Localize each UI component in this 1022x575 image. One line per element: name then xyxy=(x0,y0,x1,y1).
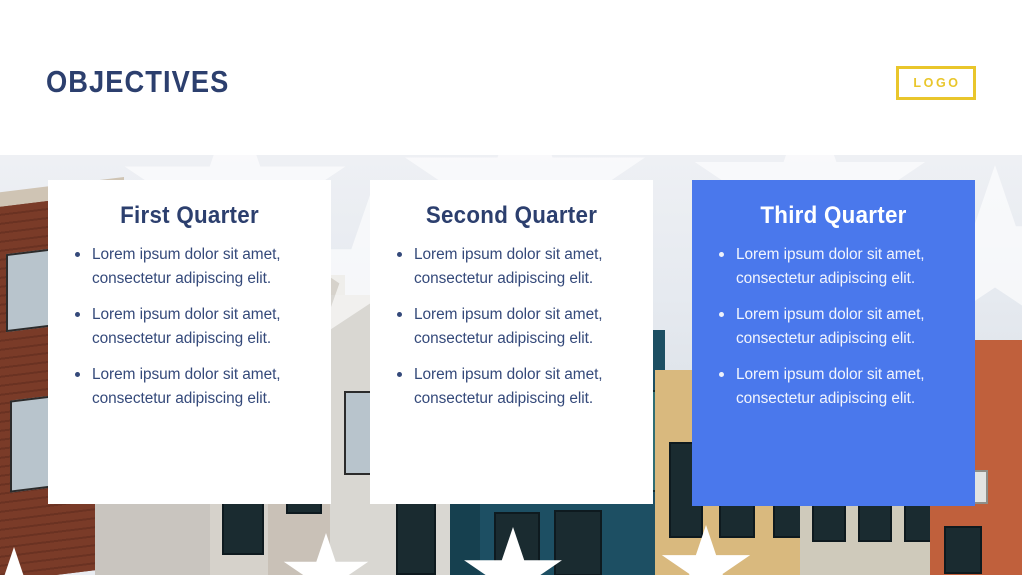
list-item: Lorem ipsum dolor sit amet, consectetur … xyxy=(414,243,631,290)
card-third-quarter[interactable]: Third Quarter Lorem ipsum dolor sit amet… xyxy=(692,180,975,506)
card-second-quarter[interactable]: Second Quarter Lorem ipsum dolor sit ame… xyxy=(370,180,653,504)
logo-text: LOGO xyxy=(911,76,960,90)
list-item: Lorem ipsum dolor sit amet, consectetur … xyxy=(736,303,953,350)
card-bullet-list: Lorem ipsum dolor sit amet, consectetur … xyxy=(66,243,313,410)
card-title: Second Quarter xyxy=(397,202,627,230)
page-title: OBJECTIVES xyxy=(46,64,229,100)
list-item: Lorem ipsum dolor sit amet, consectetur … xyxy=(92,243,309,290)
list-item: Lorem ipsum dolor sit amet, consectetur … xyxy=(414,363,631,410)
card-bullet-list: Lorem ipsum dolor sit amet, consectetur … xyxy=(710,243,957,410)
window xyxy=(554,510,602,575)
logo-box[interactable]: LOGO xyxy=(896,66,976,100)
list-item: Lorem ipsum dolor sit amet, consectetur … xyxy=(414,303,631,350)
list-item: Lorem ipsum dolor sit amet, consectetur … xyxy=(92,303,309,350)
window xyxy=(6,248,52,332)
list-item: Lorem ipsum dolor sit amet, consectetur … xyxy=(92,363,309,410)
window xyxy=(944,526,982,574)
slide-canvas: OBJECTIVES LOGO First Quarter Lorem ipsu… xyxy=(0,0,1022,575)
list-item: Lorem ipsum dolor sit amet, consectetur … xyxy=(736,363,953,410)
card-bullet-list: Lorem ipsum dolor sit amet, consectetur … xyxy=(388,243,635,410)
card-first-quarter[interactable]: First Quarter Lorem ipsum dolor sit amet… xyxy=(48,180,331,504)
card-title: Third Quarter xyxy=(719,202,949,230)
header-band: OBJECTIVES LOGO xyxy=(0,0,1022,155)
card-title: First Quarter xyxy=(75,202,305,230)
list-item: Lorem ipsum dolor sit amet, consectetur … xyxy=(736,243,953,290)
